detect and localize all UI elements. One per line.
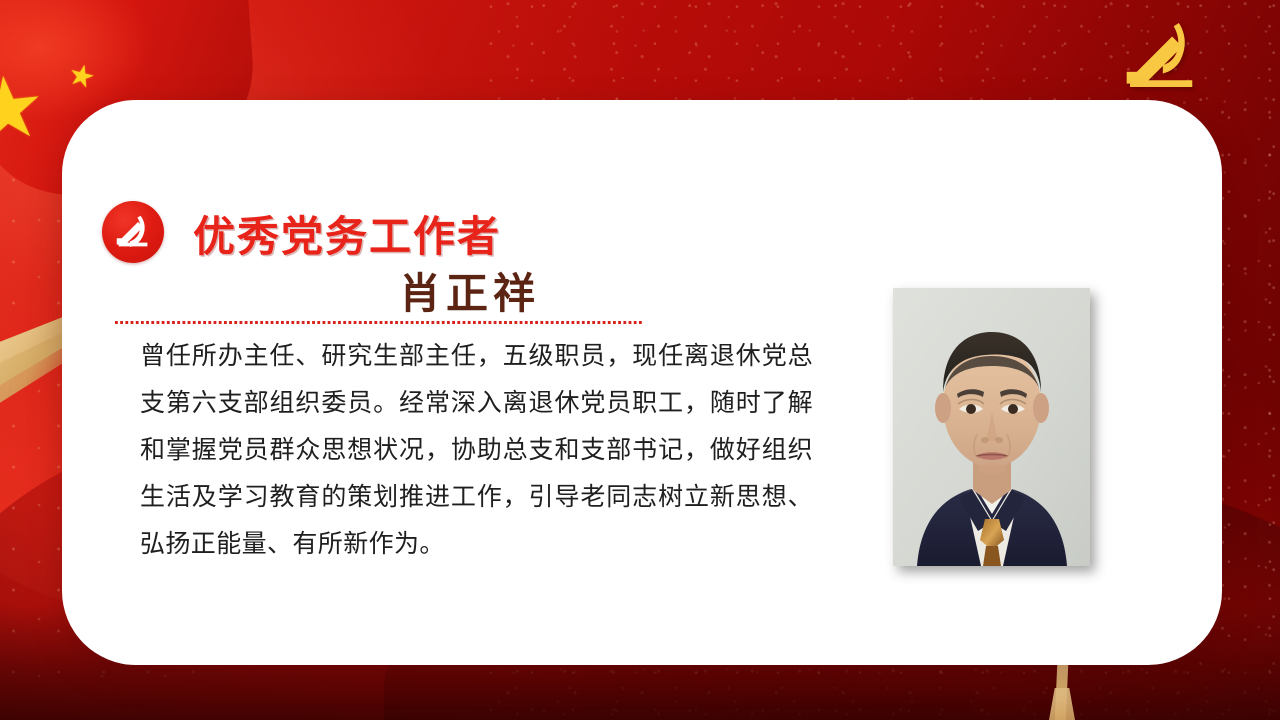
hammer-sickle-emblem-icon bbox=[1118, 18, 1206, 92]
flag-star-large-icon: ★ bbox=[0, 62, 49, 156]
biography-text: 曾任所办主任、研究生部主任，五级职员，现任离退休党总支第六支部组织委员。经常深入… bbox=[140, 332, 813, 567]
hammer-sickle-badge-icon bbox=[102, 201, 164, 263]
dotted-divider bbox=[115, 321, 642, 324]
portrait-photo bbox=[893, 288, 1090, 566]
person-name: 肖正祥 bbox=[160, 260, 540, 321]
page-title: 优秀党务工作者 bbox=[193, 203, 501, 264]
